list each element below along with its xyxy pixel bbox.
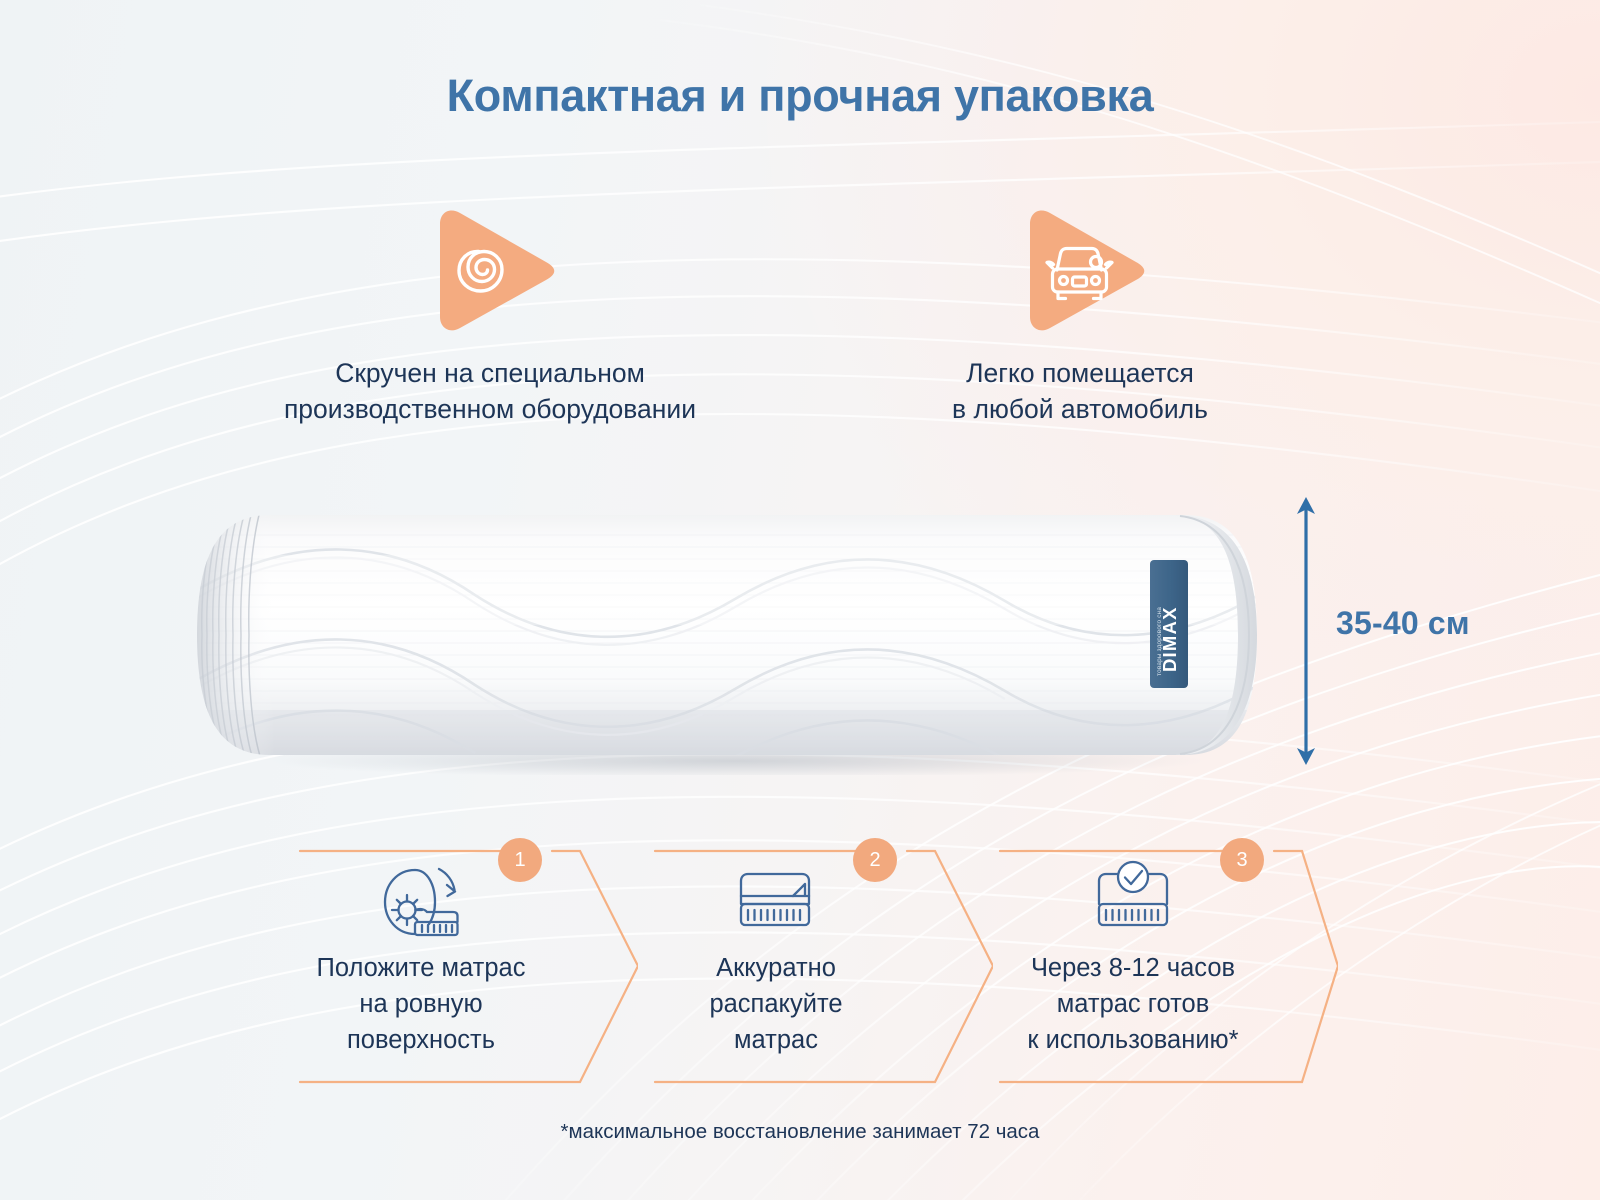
- feature-label-1: Скручен на специальном производственном …: [190, 356, 790, 428]
- footnote-text: *максимальное восстановление занимает 72…: [0, 1120, 1600, 1144]
- feature-badge-2: [1008, 200, 1153, 340]
- feature-label-2: Легко помещается в любой автомобиль: [830, 356, 1330, 428]
- unroll-mattress-icon: [377, 860, 463, 944]
- step-card-3[interactable]: 3 Через 8-12 часов матрас готов к исполь…: [990, 838, 1338, 1093]
- step-icon-wrap-2: [645, 860, 905, 945]
- dimension-label: 35-40 см: [1336, 605, 1470, 642]
- mattress-ready-check-icon: [1093, 860, 1173, 940]
- step-icon-wrap-3: [990, 860, 1275, 945]
- step-icon-wrap-1: [290, 860, 550, 949]
- step-card-2[interactable]: 2 Аккуратно распакуйте матрас: [645, 838, 993, 1093]
- spiral-roll-icon: [418, 200, 563, 340]
- unpack-mattress-icon: [735, 860, 815, 940]
- car-front-icon: [1008, 200, 1153, 340]
- feature-block-rolled: Скручен на специальном производственном …: [190, 200, 790, 428]
- feature-badge-1: [418, 200, 563, 340]
- step-card-1[interactable]: 1 Положите матрас на ро: [290, 838, 638, 1093]
- rolled-mattress-image: DIMAX товары здорового сна: [175, 495, 1285, 775]
- steps-row: 1 Положите матрас на ро: [290, 838, 1300, 1093]
- step-label-2: Аккуратно распакуйте матрас: [645, 950, 907, 1059]
- dimension-arrow: [1288, 495, 1324, 767]
- step-label-1: Положите матрас на ровную поверхность: [290, 950, 552, 1059]
- page-title: Компактная и прочная упаковка: [0, 70, 1600, 122]
- infographic-canvas: Компактная и прочная упаковка Скручен на…: [0, 0, 1600, 1200]
- brand-tag: DIMAX товары здорового сна: [1150, 560, 1188, 688]
- step-label-3: Через 8-12 часов матрас готов к использо…: [988, 950, 1278, 1059]
- feature-block-car: Легко помещается в любой автомобиль: [830, 200, 1330, 428]
- svg-text:товары здорового сна: товары здорового сна: [1156, 607, 1163, 676]
